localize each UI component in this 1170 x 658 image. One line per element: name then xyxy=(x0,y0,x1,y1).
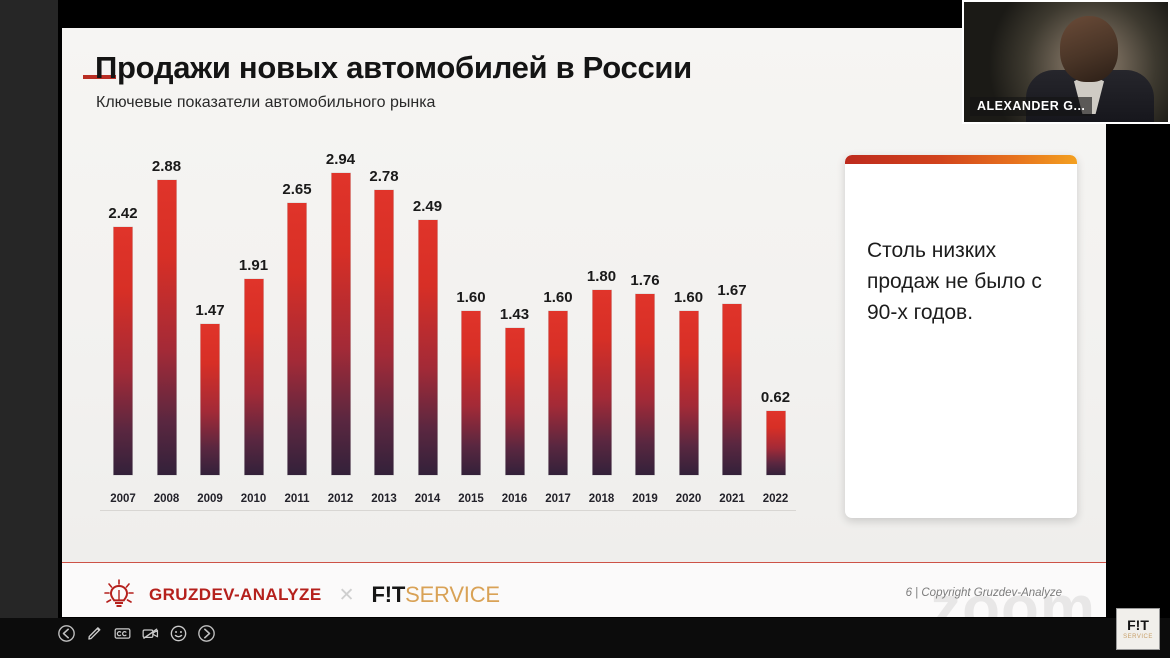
cc-icon[interactable] xyxy=(114,625,131,642)
bar-value-label: 1.47 xyxy=(195,302,224,319)
bar-category-label: 2018 xyxy=(589,493,615,505)
bar xyxy=(636,294,655,475)
zoom-meeting-window: Продажи новых автомобилей в России Ключе… xyxy=(0,0,1170,658)
bar xyxy=(418,220,437,475)
bar-value-label: 1.43 xyxy=(500,306,529,323)
bar-category-label: 2014 xyxy=(415,493,441,505)
bar-track: 1.43 xyxy=(494,157,536,475)
callout-text: Столь низких продаж не было с 90-х годов… xyxy=(867,235,1061,328)
bar-track: 2.78 xyxy=(363,157,405,475)
footer-copyright-text: Copyright Gruzdev-Analyze xyxy=(921,587,1062,599)
bar-category-label: 2010 xyxy=(241,493,267,505)
logo-separator-icon: ✕ xyxy=(339,584,355,607)
bar-track: 0.62 xyxy=(755,157,797,475)
bar-track: 1.91 xyxy=(233,157,275,475)
bar xyxy=(288,203,307,475)
fitservice-badge-top: F!T xyxy=(1127,618,1149,632)
bar xyxy=(114,227,133,475)
emoji-icon[interactable] xyxy=(170,625,187,642)
footer-copyright: 6 | Copyright Gruzdev-Analyze xyxy=(906,587,1062,599)
bar-value-label: 2.49 xyxy=(413,198,442,215)
callout-accent-bar xyxy=(845,155,1077,164)
bar xyxy=(375,190,394,475)
bar-track: 2.65 xyxy=(276,157,318,475)
chart-plot-area: 2.4220072.8820081.4720091.9120102.652011… xyxy=(96,156,806,511)
bar-category-label: 2011 xyxy=(285,493,310,505)
bar-track: 2.88 xyxy=(146,157,188,475)
left-arrow-icon[interactable] xyxy=(58,625,75,642)
participant-name-label: ALEXANDER G... xyxy=(970,97,1092,116)
bar-category-label: 2007 xyxy=(110,493,136,505)
bar-track: 1.80 xyxy=(581,157,623,475)
bar-value-label: 1.60 xyxy=(543,289,572,306)
bar-track: 2.49 xyxy=(407,157,449,475)
fitservice-logo-service: SERVICE xyxy=(405,582,500,607)
lightbulb-icon xyxy=(102,579,136,611)
shared-slide: Продажи новых автомобилей в России Ключе… xyxy=(62,28,1106,617)
bar-value-label: 1.76 xyxy=(630,272,659,289)
bar xyxy=(679,311,698,475)
bar-value-label: 2.94 xyxy=(326,151,355,168)
slide-page-number: 6 xyxy=(906,587,912,599)
fitservice-badge-bottom: SERVICE xyxy=(1123,634,1153,640)
participant-video-tile[interactable]: ALEXANDER G... xyxy=(962,0,1170,124)
participant-head xyxy=(1060,16,1118,82)
page-title: Продажи новых автомобилей в России xyxy=(95,50,692,86)
bar xyxy=(201,324,220,475)
bar-value-label: 2.65 xyxy=(282,181,311,198)
bar-value-label: 2.88 xyxy=(152,158,181,175)
bar-track: 1.60 xyxy=(537,157,579,475)
bar-value-label: 1.91 xyxy=(239,257,268,274)
bar-category-label: 2020 xyxy=(676,493,702,505)
bar-category-label: 2019 xyxy=(632,493,658,505)
bar-category-label: 2016 xyxy=(502,493,528,505)
bar-chart: 2.4220072.8820081.4720091.9120102.652011… xyxy=(96,156,806,546)
bar xyxy=(462,311,481,475)
slide-footer: zoom xyxy=(62,563,1106,617)
bar-category-label: 2017 xyxy=(545,493,571,505)
bar-track: 1.60 xyxy=(668,157,710,475)
bar-value-label: 1.60 xyxy=(674,289,703,306)
bar xyxy=(592,290,611,475)
pen-icon[interactable] xyxy=(86,625,103,642)
fitservice-logo-fit: F!T xyxy=(371,582,405,607)
bar-category-label: 2013 xyxy=(371,493,397,505)
bar-category-label: 2012 xyxy=(328,493,354,505)
bar-value-label: 0.62 xyxy=(761,389,790,406)
bar xyxy=(157,180,176,475)
bar xyxy=(549,311,568,475)
bar-category-label: 2008 xyxy=(154,493,180,505)
chart-baseline-axis xyxy=(100,510,796,511)
bar-category-label: 2015 xyxy=(458,493,484,505)
bar-track: 1.76 xyxy=(624,157,666,475)
page-subtitle: Ключевые показатели автомобильного рынка xyxy=(96,94,435,112)
bar-category-label: 2021 xyxy=(719,493,745,505)
right-arrow-icon[interactable] xyxy=(198,625,215,642)
footer-divider-glyph: | xyxy=(915,587,918,599)
fitservice-corner-badge: F!T SERVICE xyxy=(1116,608,1160,650)
bar xyxy=(244,279,263,475)
callout-box: Столь низких продаж не было с 90-х годов… xyxy=(845,155,1077,518)
bar-track: 2.42 xyxy=(102,157,144,475)
gruzdev-analyze-logo-text: GRUZDEV-ANALYZE xyxy=(149,585,322,605)
video-off-icon[interactable] xyxy=(142,625,159,642)
bar-category-label: 2022 xyxy=(763,493,789,505)
left-rail xyxy=(0,0,58,658)
bar-value-label: 1.60 xyxy=(456,289,485,306)
bar-track: 1.47 xyxy=(189,157,231,475)
bar-track: 1.67 xyxy=(711,157,753,475)
bar-value-label: 2.78 xyxy=(369,168,398,185)
footer-logos: GRUZDEV-ANALYZE ✕ F!TSERVICE xyxy=(102,579,500,611)
bar-value-label: 1.80 xyxy=(587,268,616,285)
bar xyxy=(766,411,785,475)
annotation-toolbar xyxy=(58,625,215,642)
bar xyxy=(331,173,350,475)
slide-background: Продажи новых автомобилей в России Ключе… xyxy=(62,28,1106,617)
bar-track: 2.94 xyxy=(320,157,362,475)
bar-category-label: 2009 xyxy=(197,493,223,505)
bar-value-label: 2.42 xyxy=(108,205,137,222)
fitservice-logo-text: F!TSERVICE xyxy=(371,582,499,608)
bar xyxy=(723,304,742,475)
bar-track: 1.60 xyxy=(450,157,492,475)
bar-value-label: 1.67 xyxy=(717,282,746,299)
bar xyxy=(505,328,524,475)
